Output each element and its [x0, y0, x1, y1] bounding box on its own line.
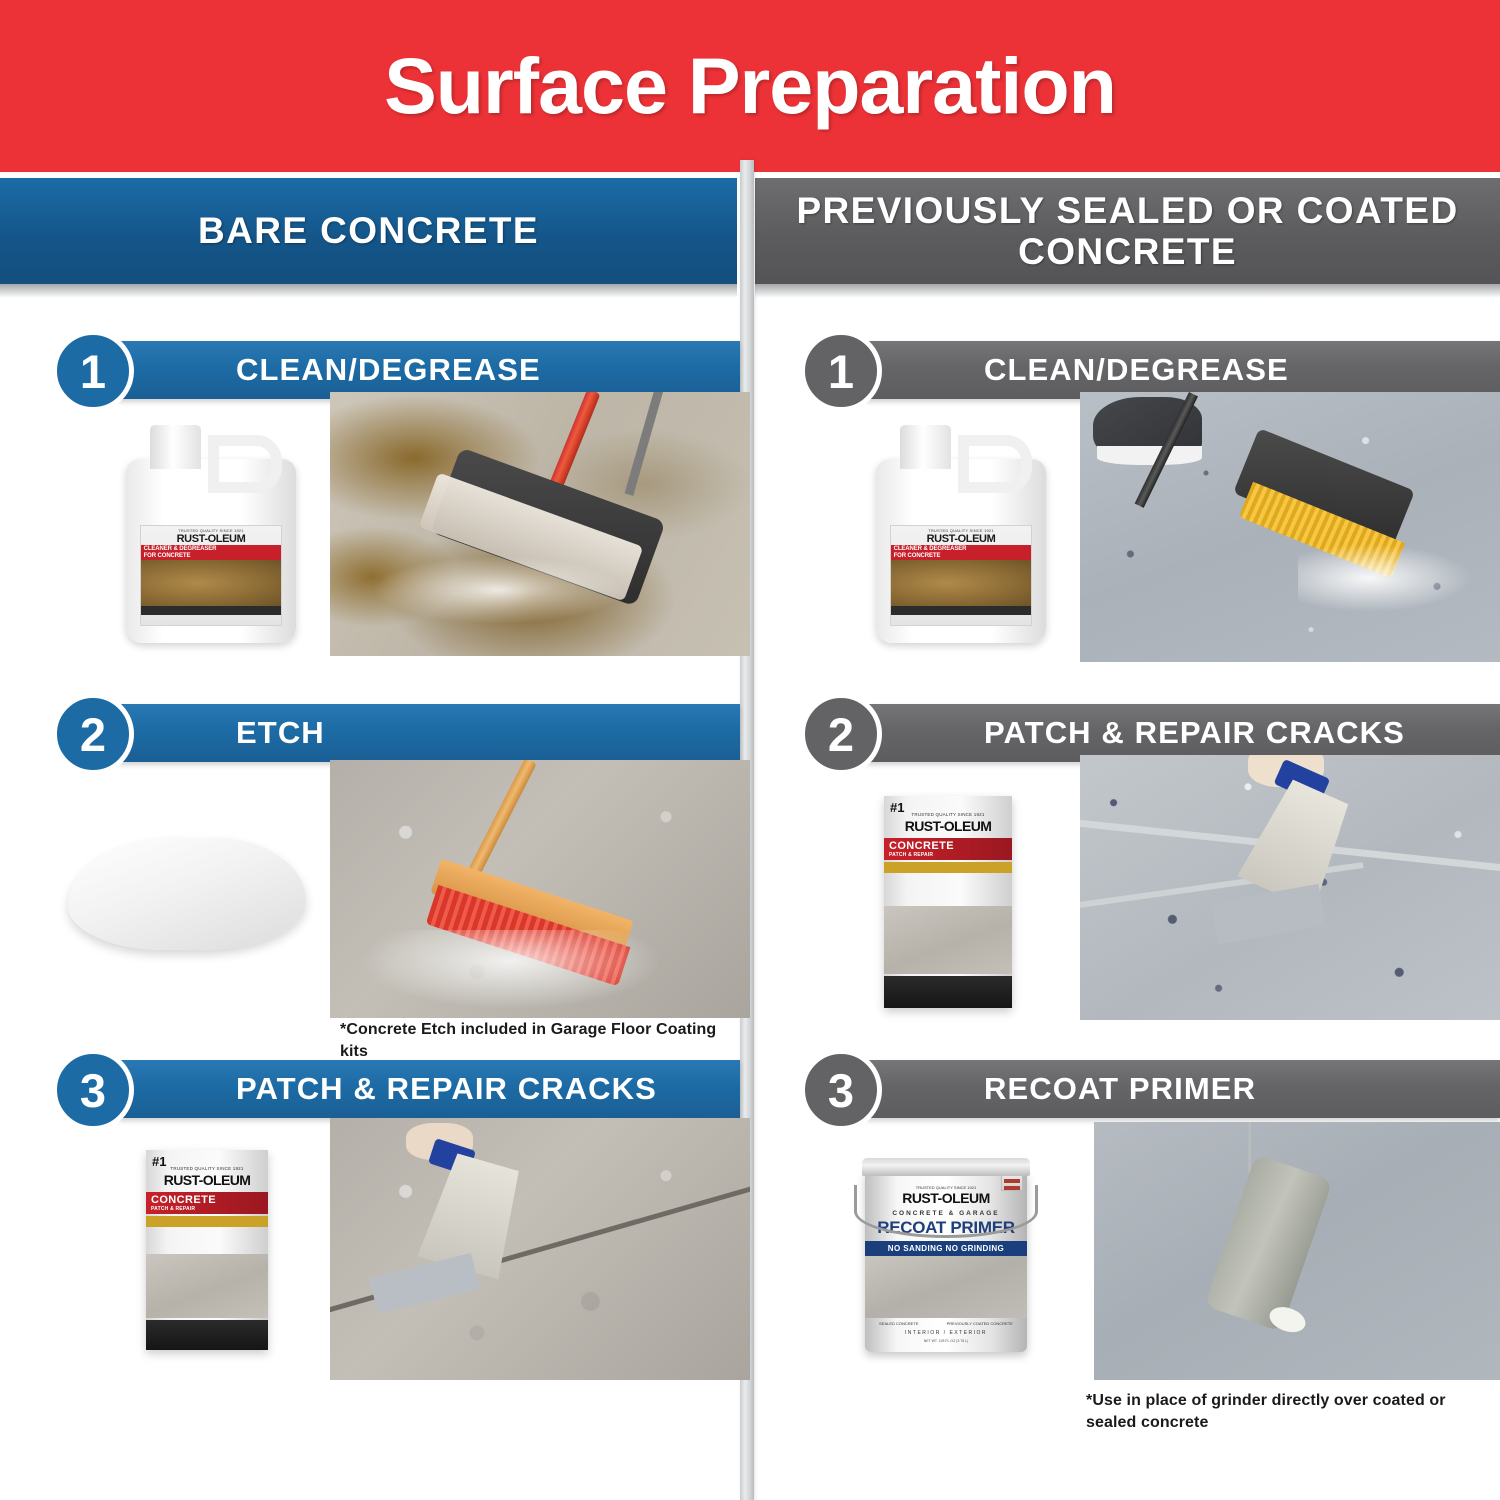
step-number-left-3: 3 [52, 1049, 134, 1131]
step-banner-left-3: PATCH & REPAIR CRACKS [118, 1060, 740, 1118]
can-small-right: PREVIOUSLY COATED CONCRETE [947, 1321, 1013, 1326]
column-header-previously-sealed: PREVIOUSLY SEALED OR COATED CONCRETE [755, 178, 1500, 284]
column-header-shadow-left [0, 284, 737, 298]
jug-product-line: CLEANER & DEGREASER FOR CONCRETE [891, 545, 1032, 560]
photo-left-step2 [330, 760, 750, 1018]
photo-right-step2 [1080, 755, 1500, 1020]
box-product-line1: CONCRETE [889, 840, 1007, 852]
step-number-left-2: 2 [52, 693, 134, 775]
photo-left-step1 [330, 392, 750, 656]
step-banner-right-3: RECOAT PRIMER [866, 1060, 1500, 1118]
photo-left-step1-scene [330, 392, 750, 656]
column-header-label-left: BARE CONCRETE [198, 210, 539, 251]
step-number-right-3: 3 [800, 1049, 882, 1131]
step-banner-right-1: CLEAN/DEGREASE [866, 341, 1500, 399]
product-jug-cleaner-degreaser-right: TRUSTED QUALITY SINCE 1921 RUST-OLEUM CL… [876, 425, 1046, 643]
box-badge-number-one: #1 [152, 1154, 166, 1169]
page-title: Surface Preparation [384, 40, 1116, 132]
box-product-line1: CONCRETE [151, 1194, 263, 1206]
step-label-left-2: ETCH [118, 715, 325, 751]
product-jug-cleaner-degreaser-left: TRUSTED QUALITY SINCE 1921 RUST-OLEUM CL… [126, 425, 296, 643]
photo-left-step2-scene [330, 760, 750, 1018]
box-gold-strip [146, 1216, 268, 1227]
box-footer-strip [146, 1320, 268, 1350]
step-number-right-1: 1 [800, 330, 882, 412]
jug-handle [958, 435, 1033, 493]
jug-tagline: TRUSTED QUALITY SINCE 1921 [141, 526, 282, 533]
jug-tagline: TRUSTED QUALITY SINCE 1921 [891, 526, 1032, 533]
photo-right-step1 [1080, 392, 1500, 662]
can-net-weight: NET WT. 128 FL OZ (3.78 L) [865, 1339, 1027, 1343]
product-can-recoat-primer: TRUSTED QUALITY SINCE 1921 RUST-OLEUM CO… [858, 1152, 1034, 1356]
photo-right-step1-scene [1080, 392, 1500, 662]
can-small-left: SEALED CONCRETE [879, 1321, 918, 1326]
product-box-concrete-patch-repair-right: #1 TRUSTED QUALITY SINCE 1921 RUST-OLEUM… [884, 796, 1012, 1008]
can-lid [862, 1158, 1031, 1176]
jug-product-line: CLEANER & DEGREASER FOR CONCRETE [141, 545, 282, 560]
photo-right-step3-scene [1094, 1122, 1500, 1380]
jug-label: TRUSTED QUALITY SINCE 1921 RUST-OLEUM CL… [890, 525, 1033, 625]
box-label-photo [884, 906, 1012, 974]
can-bail-handle [854, 1185, 1037, 1238]
box-brand: RUST-OLEUM [146, 1172, 268, 1188]
box-label-photo [146, 1254, 268, 1318]
step-label-left-1: CLEAN/DEGREASE [118, 352, 541, 388]
photo-right-step2-scene [1080, 755, 1500, 1020]
step-banner-left-2: ETCH [118, 704, 740, 762]
can-use: INTERIOR / EXTERIOR [865, 1330, 1027, 1336]
jug-brand: RUST-OLEUM [891, 533, 1032, 545]
box-face: #1 TRUSTED QUALITY SINCE 1921 RUST-OLEUM… [884, 796, 1012, 1008]
step-label-left-3: PATCH & REPAIR CRACKS [118, 1071, 657, 1107]
jug-label-photo [891, 560, 1032, 605]
can-feature-band: NO SANDING NO GRINDING [865, 1241, 1027, 1256]
column-header-shadow-right [755, 284, 1500, 298]
step-label-right-2: PATCH & REPAIR CRACKS [866, 715, 1405, 751]
jug-label-photo [141, 560, 282, 605]
footnote-right-step3: *Use in place of grinder directly over c… [1086, 1390, 1486, 1433]
photo-right-step3 [1094, 1122, 1500, 1380]
jug-handle [208, 435, 283, 493]
photo-left-step3 [330, 1118, 750, 1380]
box-product-line2: PATCH & REPAIR [889, 852, 1007, 858]
can-small-labels: SEALED CONCRETE PREVIOUSLY COATED CONCRE… [865, 1321, 1027, 1326]
jug-brand: RUST-OLEUM [141, 533, 282, 545]
box-product-band: CONCRETE PATCH & REPAIR [884, 838, 1012, 860]
jug-label-footer [891, 606, 1032, 616]
box-gold-strip [884, 862, 1012, 873]
photo-left-step3-scene [330, 1118, 750, 1380]
jug-label: TRUSTED QUALITY SINCE 1921 RUST-OLEUM CL… [140, 525, 283, 625]
jug-neck [900, 425, 951, 469]
step-number-left-1: 1 [52, 330, 134, 412]
box-product-line2: PATCH & REPAIR [151, 1206, 263, 1212]
box-brand: RUST-OLEUM [884, 818, 1012, 834]
product-bag-concrete-etch [68, 838, 306, 950]
can-label-photo [865, 1256, 1027, 1318]
footnote-left-step2: *Concrete Etch included in Garage Floor … [340, 1019, 740, 1062]
step-banner-left-1: CLEAN/DEGREASE [118, 341, 740, 399]
step-banner-right-2: PATCH & REPAIR CRACKS [866, 704, 1500, 762]
box-face: #1 TRUSTED QUALITY SINCE 1921 RUST-OLEUM… [146, 1150, 268, 1350]
step-label-right-3: RECOAT PRIMER [866, 1071, 1256, 1107]
product-box-concrete-patch-repair-left: #1 TRUSTED QUALITY SINCE 1921 RUST-OLEUM… [146, 1150, 268, 1350]
step-number-right-2: 2 [800, 693, 882, 775]
jug-label-footer [141, 606, 282, 616]
step-label-right-1: CLEAN/DEGREASE [866, 352, 1289, 388]
jug-neck [150, 425, 201, 469]
box-badge-number-one: #1 [890, 800, 904, 815]
box-footer-strip [884, 976, 1012, 1008]
column-header-bare-concrete: BARE CONCRETE [0, 178, 737, 284]
page-header-band: Surface Preparation [0, 0, 1500, 172]
box-product-band: CONCRETE PATCH & REPAIR [146, 1192, 268, 1214]
column-header-label-right: PREVIOUSLY SEALED OR COATED CONCRETE [755, 190, 1500, 273]
